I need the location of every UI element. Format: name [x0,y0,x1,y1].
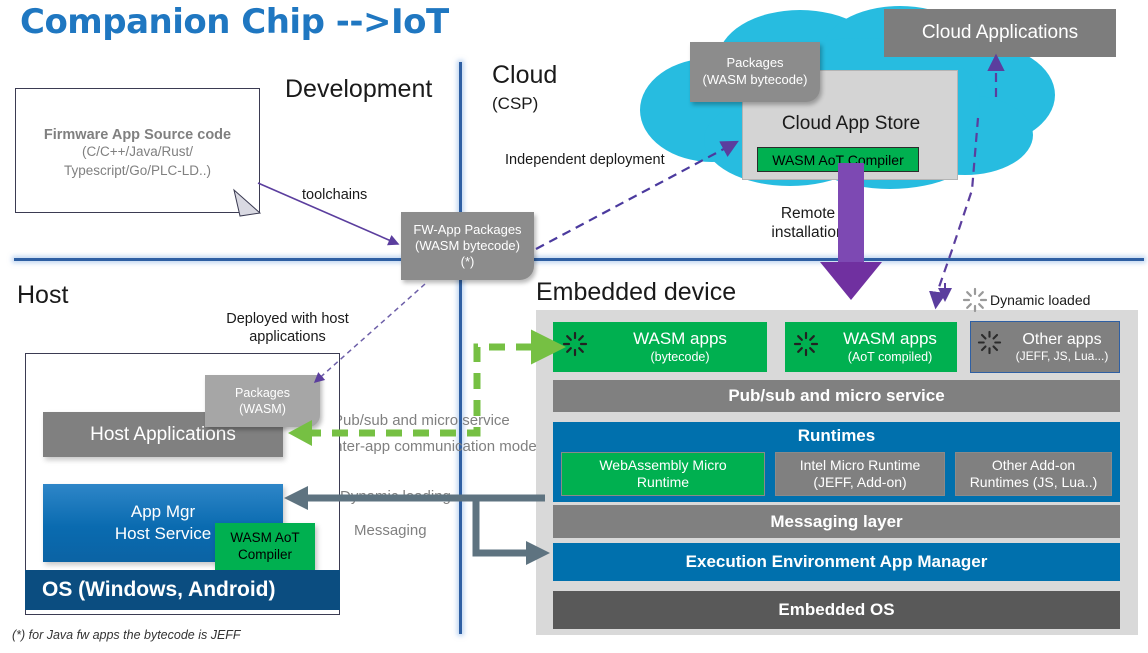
app-mgr-line1: App Mgr [131,501,195,523]
firmware-source-langs-1: (C/C++/Java/Rust/ [82,143,193,161]
host-packages-tag: Packages (WASM) [205,375,320,427]
spinner-icon [793,331,819,357]
fw-packages-line1: FW-App Packages [413,222,521,238]
fw-packages-line2: (WASM bytecode) [415,238,520,254]
cloud-packages-line2: (WASM bytecode) [703,72,808,89]
cloud-applications-box: Cloud Applications [884,9,1116,57]
label-inter-app-comm: Inter-app communication models [330,437,548,457]
heading-cloud: Cloud [492,61,557,90]
host-os-label: OS (Windows, Android) [42,578,276,602]
spinner-icon-legend [962,287,988,313]
label-messaging: Messaging [354,521,427,541]
label-remote-installation: Remote installation [762,204,854,243]
cloud-applications-label: Cloud Applications [922,22,1078,44]
embedded-runtimes-title: Runtimes [553,424,1120,448]
cloud-app-store-title: Cloud App Store [743,111,959,137]
cloud-packages-line1: Packages [726,55,783,72]
page-title: Companion Chip -->IoT [20,2,449,42]
embedded-exec-env-label: Execution Environment App Manager [686,552,988,572]
spinner-icon [562,331,588,357]
runtime-0: WebAssembly Micro Runtime [561,452,765,496]
diagram-canvas: Companion Chip -->IoT Development Cloud … [0,0,1148,653]
firmware-source-title: Firmware App Source code [44,127,231,143]
runtime-1-line2: (JEFF, Add-on) [813,474,906,491]
heading-host: Host [17,281,68,310]
embedded-app-0-name: WASM apps [633,329,727,349]
embedded-app-1: WASM apps (AoT compiled) [785,322,957,372]
embedded-app-2: Other apps (JEFF, JS, Lua...) [970,321,1120,373]
heading-cloud-sub: (CSP) [492,94,538,114]
firmware-source-langs-2: Typescript/Go/PLC-LD..) [64,162,211,180]
host-os-box: OS (Windows, Android) [25,570,340,610]
label-dynamic-loaded: Dynamic loaded [990,292,1090,310]
embedded-app-2-sub: (JEFF, JS, Lua...) [1016,349,1109,363]
cloud-wasm-aot-compiler-label: WASM AoT Compiler [772,152,903,168]
cloud-packages-tag: Packages (WASM bytecode) [690,42,820,102]
label-independent-deployment: Independent deployment [505,151,665,169]
arrow-messaging [476,498,533,553]
divider-vertical [459,62,462,634]
heading-embedded-device: Embedded device [536,278,736,307]
embedded-os-row: Embedded OS [553,591,1120,629]
embedded-app-1-sub: (AoT compiled) [848,350,933,365]
cloud-wasm-aot-compiler-box: WASM AoT Compiler [757,147,919,172]
runtime-2-line2: Runtimes (JS, Lua..) [970,474,1098,491]
embedded-messaging-layer-label: Messaging layer [770,512,902,532]
footnote: (*) for Java fw apps the bytecode is JEF… [12,628,241,642]
host-wasm-aot-line1: WASM AoT [230,530,299,547]
host-packages-line1: Packages [235,385,290,401]
divider-horizontal-top [14,258,1144,261]
app-mgr-line2: Host Service [115,523,211,545]
runtime-1-line1: Intel Micro Runtime [800,457,921,474]
runtime-0-line1: WebAssembly Micro [599,457,726,474]
embedded-app-0: WASM apps (bytecode) [553,322,767,372]
spinner-icon [977,330,1002,355]
embedded-pubsub-label: Pub/sub and micro service [728,386,944,406]
host-wasm-aot-line2: Compiler [238,547,292,564]
embedded-app-2-name: Other apps [1022,330,1101,349]
runtime-2-line1: Other Add-on [992,457,1075,474]
firmware-source-box: Firmware App Source code (C/C++/Java/Rus… [15,88,260,213]
runtime-0-line2: Runtime [637,474,689,491]
runtime-2: Other Add-on Runtimes (JS, Lua..) [955,452,1112,496]
label-deployed-with-host: Deployed with host applications [205,310,370,346]
fw-app-packages-tag: FW-App Packages (WASM bytecode) (*) [401,212,534,280]
label-toolchains: toolchains [302,186,367,204]
host-packages-line2: (WASM) [239,401,286,417]
embedded-runtimes-group: Runtimes WebAssembly Micro Runtime Intel… [553,422,1120,502]
embedded-os-label: Embedded OS [778,600,894,620]
embedded-messaging-layer-row: Messaging layer [553,505,1120,538]
embedded-pubsub-row: Pub/sub and micro service [553,380,1120,412]
embedded-app-0-sub: (bytecode) [650,350,709,365]
runtime-1: Intel Micro Runtime (JEFF, Add-on) [775,452,945,496]
heading-development: Development [285,75,432,104]
label-pubsub-micro-service: Pub/sub and micro service [333,411,510,431]
embedded-app-1-name: WASM apps [843,329,937,349]
embedded-exec-env-row: Execution Environment App Manager [553,543,1120,581]
fw-packages-line3: (*) [461,254,475,270]
host-wasm-aot-compiler-box: WASM AoT Compiler [215,523,315,570]
label-dynamic-loading: Dynamic loading [340,487,451,507]
